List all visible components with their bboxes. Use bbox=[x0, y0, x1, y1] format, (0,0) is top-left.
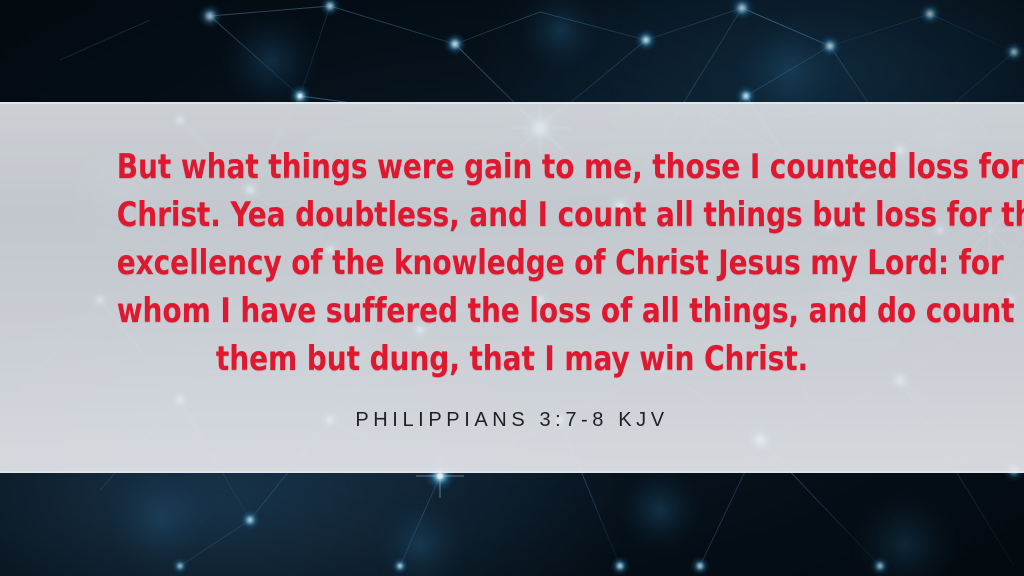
quote-graphic: But what things were gain to me, those I… bbox=[0, 0, 1024, 576]
verse-text: But what things were gain to me, those I… bbox=[117, 143, 908, 383]
verse-line-2: Christ. Yea doubtless, and I count all t… bbox=[117, 191, 908, 239]
verse-line-1: But what things were gain to me, those I… bbox=[117, 143, 908, 191]
verse-line-3: excellency of the knowledge of Christ Je… bbox=[117, 239, 908, 287]
verse-line-5: them but dung, that I may win Christ. bbox=[117, 335, 908, 383]
band-bottom-edge bbox=[0, 471, 1024, 473]
band-top-edge bbox=[0, 102, 1024, 104]
verse-line-4: whom I have suffered the loss of all thi… bbox=[117, 287, 908, 335]
scripture-citation: PHILIPPIANS 3:7-8 KJV bbox=[355, 383, 668, 432]
quote-band: But what things were gain to me, those I… bbox=[0, 102, 1024, 473]
